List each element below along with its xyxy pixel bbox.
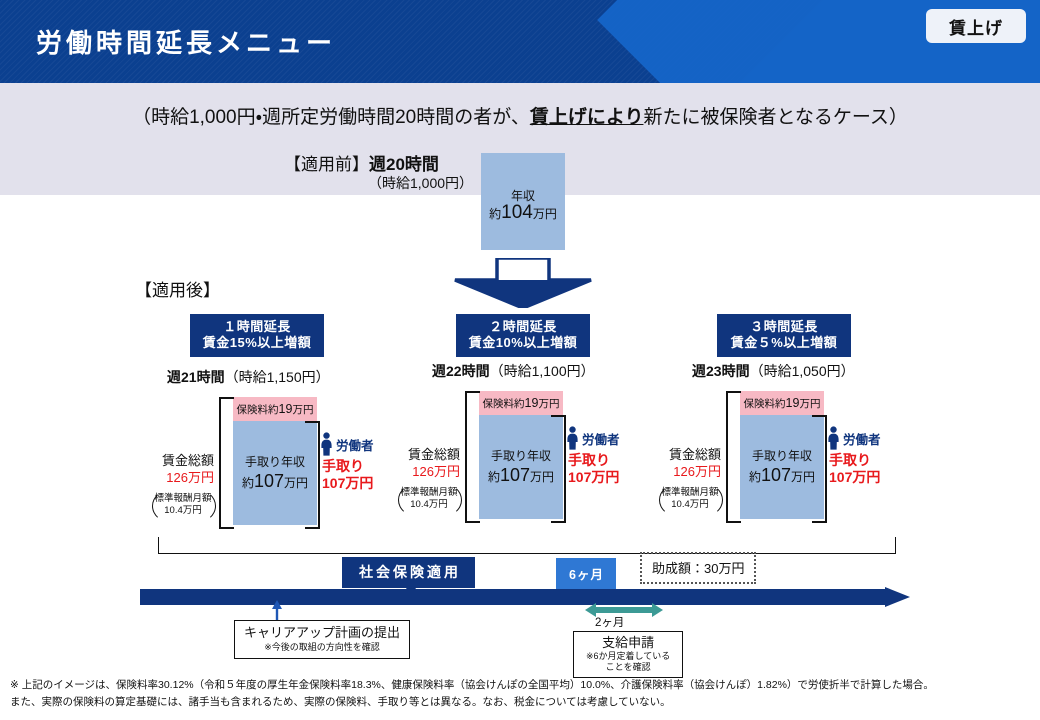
- ins-amt-2: 19: [525, 396, 539, 410]
- net-prefix-1: 約: [242, 476, 254, 490]
- scenario-standard-2: 標準報酬月額 10.4万円: [398, 487, 460, 511]
- callout-benefit-application: 支給申請 ※6か月定着している ことを確認: [573, 631, 683, 678]
- scenario-total-3: 賃金総額 126万円: [649, 446, 721, 480]
- scenario-worker-3: 労働者 手取り 107万円: [827, 426, 881, 486]
- scenario-title-2-line2: 賃金10%以上増額: [456, 335, 590, 351]
- net-label-3: 手取り年収: [752, 447, 812, 466]
- std-line2-1: 10.4万円: [152, 505, 214, 517]
- scenario-title-3-line2: 賃金５%以上増額: [717, 335, 851, 351]
- before-bracket-label: 【適用前】: [284, 155, 369, 174]
- before-hourly-wage: （時給1,000円）: [368, 173, 473, 193]
- scenario-title-2: ２時間延長 賃金10%以上増額: [456, 314, 590, 357]
- std-line2-3: 10.4万円: [659, 499, 721, 511]
- timeline-chip-insurance-applied: 社会保険適用: [342, 557, 475, 588]
- worker-row-2: 労働者: [566, 426, 620, 450]
- worker-take-value-1: 107万円: [322, 475, 374, 492]
- scenario-standard-1: 標準報酬月額 10.4万円: [152, 493, 214, 517]
- ins-amt-1: 19: [279, 402, 293, 416]
- scenario-title-1-line1: １時間延長: [190, 319, 324, 335]
- total-label-3: 賃金総額: [649, 446, 721, 463]
- scenario-hours-1-bold: 週21時間: [167, 369, 225, 385]
- scenario-hours-1-rest: （時給1,150円）: [225, 369, 330, 385]
- total-label-2: 賃金総額: [388, 446, 460, 463]
- before-annual-income-bar: 年収 約104万円: [481, 153, 565, 250]
- scenario-hours-3: 週23時間（時給1,050円）: [692, 361, 855, 381]
- scenario-hours-2: 週22時間（時給1,100円）: [432, 361, 595, 381]
- net-label-2: 手取り年収: [491, 447, 551, 466]
- footnote-line-1: ※ 上記のイメージは、保険料率30.12%（令和５年度の厚生年金保険料率18.3…: [10, 677, 1034, 694]
- scenario-bar-2-insurance: 保険料約19万円: [479, 391, 563, 415]
- worker-take-value-3: 107万円: [829, 469, 881, 486]
- scenario-hours-2-bold: 週22時間: [432, 363, 490, 379]
- person-icon: [566, 426, 579, 450]
- before-bar-unit: 万円: [533, 207, 557, 221]
- worker-take-1: 手取り 107万円: [322, 458, 374, 492]
- scenario-title-3-line1: ３時間延長: [717, 319, 851, 335]
- net-amount-1: 約107万円: [242, 472, 308, 493]
- scenario-worker-2: 労働者 手取り 107万円: [566, 426, 620, 486]
- ins-text-1: 保険料約: [237, 402, 279, 417]
- scenario-brace-right-3: [812, 415, 827, 523]
- before-bar-prefix: 約: [489, 207, 501, 221]
- subsidy-amount-box: 助成額：30万円: [640, 552, 756, 584]
- scenario-bar-3-insurance: 保険料約19万円: [740, 391, 824, 415]
- scenario-brace-right-1: [305, 421, 320, 529]
- scenario-title-1: １時間延長 賃金15%以上増額: [190, 314, 324, 357]
- subtitle-pre: （時給1,000円・週所定労働時間20時間の者が、: [132, 107, 530, 128]
- two-month-label: 2ヶ月: [595, 614, 624, 630]
- scenario-total-1: 賃金総額 126万円: [142, 452, 214, 486]
- net-amount-3: 約107万円: [749, 466, 815, 487]
- scenario-title-2-line1: ２時間延長: [456, 319, 590, 335]
- callout-career-note: ※今後の取組の方向性を確認: [244, 641, 400, 653]
- scenario-worker-1: 労働者 手取り 107万円: [320, 432, 374, 492]
- ins-unit-2: 万円: [538, 396, 559, 411]
- callout-apply-note1: ※6か月定着している: [586, 651, 670, 662]
- total-value-1: 126万円: [142, 469, 214, 486]
- worker-name-1: 労働者: [336, 435, 374, 454]
- timeline-arrow: [140, 587, 910, 607]
- scenario-brace-left-3: [726, 391, 741, 523]
- net-prefix-2: 約: [488, 470, 500, 484]
- before-bar-amount: 約104万円: [481, 202, 565, 224]
- footnote: ※ 上記のイメージは、保険料率30.12%（令和５年度の厚生年金保険料率18.3…: [10, 677, 1034, 711]
- worker-take-label-2: 手取り: [568, 452, 620, 469]
- callout-career-plan: キャリアアップ計画の提出 ※今後の取組の方向性を確認: [234, 620, 410, 659]
- scenario-standard-3: 標準報酬月額 10.4万円: [659, 487, 721, 511]
- worker-take-2: 手取り 107万円: [568, 452, 620, 486]
- std-line2-2: 10.4万円: [398, 499, 460, 511]
- callout-apply-title: 支給申請: [586, 635, 670, 651]
- scenario-bar-1-insurance: 保険料約19万円: [233, 397, 317, 421]
- net-value-3: 107: [761, 465, 791, 485]
- subtitle-text: （時給1,000円・週所定労働時間20時間の者が、賃上げにより新たに被保険者とな…: [0, 102, 1040, 129]
- net-value-1: 107: [254, 471, 284, 491]
- total-value-3: 126万円: [649, 463, 721, 480]
- scenario-brace-left-2: [465, 391, 480, 523]
- scenario-hours-3-rest: （時給1,050円）: [750, 363, 855, 379]
- page-title: 労働時間延長メニュー: [36, 23, 336, 60]
- worker-name-3: 労働者: [843, 429, 881, 448]
- ins-text-3: 保険料約: [744, 396, 786, 411]
- std-line1-3: 標準報酬月額: [659, 487, 721, 499]
- scenario-brace-right-2: [551, 415, 566, 523]
- status-badge-wage-increase: 賃上げ: [926, 9, 1026, 43]
- worker-take-3: 手取り 107万円: [829, 452, 881, 486]
- before-label: 【適用前】週20時間: [284, 150, 439, 175]
- scenario-total-2: 賃金総額 126万円: [388, 446, 460, 480]
- worker-take-label-3: 手取り: [829, 452, 881, 469]
- net-value-2: 107: [500, 465, 530, 485]
- scenario-title-1-line2: 賃金15%以上増額: [190, 335, 324, 351]
- person-icon: [320, 432, 333, 456]
- worker-name-2: 労働者: [582, 429, 620, 448]
- worker-row-3: 労働者: [827, 426, 881, 450]
- total-value-2: 126万円: [388, 463, 460, 480]
- scenario-title-3: ３時間延長 賃金５%以上増額: [717, 314, 851, 357]
- scenario-hours-3-bold: 週23時間: [692, 363, 750, 379]
- ins-amt-3: 19: [786, 396, 800, 410]
- ins-text-2: 保険料約: [483, 396, 525, 411]
- scenario-hours-1: 週21時間（時給1,150円）: [167, 367, 330, 387]
- scenario-brace-left-1: [219, 397, 234, 529]
- total-label-1: 賃金総額: [142, 452, 214, 469]
- worker-take-label-1: 手取り: [322, 458, 374, 475]
- overall-bracket: [158, 537, 896, 554]
- person-icon: [827, 426, 840, 450]
- net-label-1: 手取り年収: [245, 453, 305, 472]
- net-amount-2: 約107万円: [488, 466, 554, 487]
- subtitle-post: 新たに被保険者となるケース）: [643, 107, 907, 128]
- before-hours-label: 週20時間: [369, 155, 439, 174]
- callout-apply-note2: ことを確認: [586, 662, 670, 673]
- ins-unit-3: 万円: [799, 396, 820, 411]
- before-bar-value: 104: [501, 202, 533, 223]
- after-label: 【適用後】: [135, 276, 220, 301]
- footnote-line-2: また、実際の保険料の算定基礎には、諸手当も含まれるため、実際の保険料、手取り等と…: [10, 694, 1034, 711]
- subtitle-emphasis: 賃上げにより: [530, 107, 644, 128]
- callout-career-title: キャリアアップ計画の提出: [244, 625, 400, 641]
- worker-take-value-2: 107万円: [568, 469, 620, 486]
- ins-unit-1: 万円: [292, 402, 313, 417]
- net-prefix-3: 約: [749, 470, 761, 484]
- timeline-chip-six-months: 6ヶ月: [556, 558, 616, 590]
- down-arrow-icon: [441, 258, 605, 308]
- worker-row-1: 労働者: [320, 432, 374, 456]
- scenario-hours-2-rest: （時給1,100円）: [490, 363, 595, 379]
- std-line1-1: 標準報酬月額: [152, 493, 214, 505]
- std-line1-2: 標準報酬月額: [398, 487, 460, 499]
